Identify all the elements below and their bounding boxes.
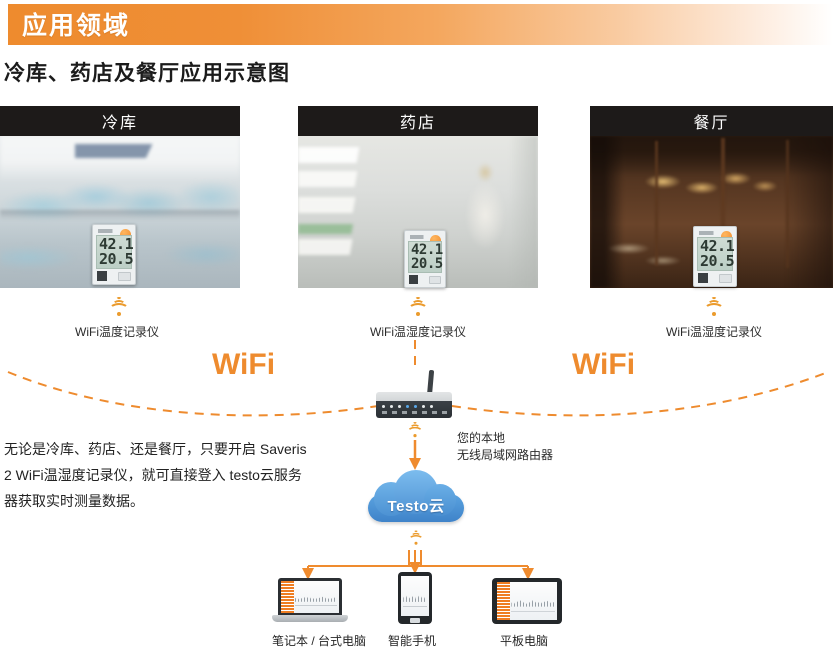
tablet-icon <box>492 578 562 624</box>
wifi-signal-icon-cloud <box>406 531 426 546</box>
wifi-label-right: WiFi <box>572 348 635 382</box>
application-diagram-page: 应用领域 冷库、药店及餐厅应用示意图 冷库 42.1 20.5 WiFi温度记录… <box>0 0 833 657</box>
client-label-phone: 智能手机 <box>388 632 436 649</box>
router-label-line2: 无线局域网路由器 <box>457 447 553 464</box>
phone-screen <box>401 576 429 616</box>
phone-app-view <box>401 576 429 616</box>
testo-cloud-icon: Testo云 <box>368 468 464 526</box>
tablet-frame <box>492 578 562 624</box>
laptop-icon <box>272 578 348 624</box>
phone-frame <box>398 572 432 624</box>
router-label-line1: 您的本地 <box>457 430 553 447</box>
router-body <box>376 401 452 418</box>
wifi-label-left: WiFi <box>212 348 275 382</box>
phone-home-button[interactable] <box>410 618 420 623</box>
laptop-app-view <box>281 581 339 613</box>
app-sidebar-bars <box>497 582 510 620</box>
laptop-lid <box>278 578 342 616</box>
cloud-label: Testo云 <box>368 494 464 516</box>
tablet-app-view <box>497 582 557 620</box>
wifi-link-left <box>8 372 378 415</box>
tablet-screen <box>497 582 557 620</box>
app-chart <box>511 589 554 612</box>
router-leds <box>382 405 433 408</box>
laptop-base <box>272 615 348 622</box>
client-label-laptop: 笔记本 / 台式电脑 <box>272 632 366 649</box>
wifi-link-right <box>452 372 828 415</box>
wifi-signal-icon-router <box>405 422 426 438</box>
client-label-tablet: 平板电脑 <box>500 632 548 649</box>
wifi-router-icon <box>376 370 452 418</box>
smartphone-icon <box>398 572 432 624</box>
connector-lines <box>0 0 833 657</box>
app-sidebar-bars <box>281 581 294 613</box>
app-chart <box>403 583 427 607</box>
router-label: 您的本地 无线局域网路由器 <box>457 430 553 464</box>
router-ports <box>382 411 447 414</box>
laptop-screen <box>281 581 339 613</box>
app-chart <box>295 587 337 606</box>
description-text: 无论是冷库、药店、还是餐厅，只要开启 Saveris 2 WiFi温湿度记录仪，… <box>4 436 314 514</box>
